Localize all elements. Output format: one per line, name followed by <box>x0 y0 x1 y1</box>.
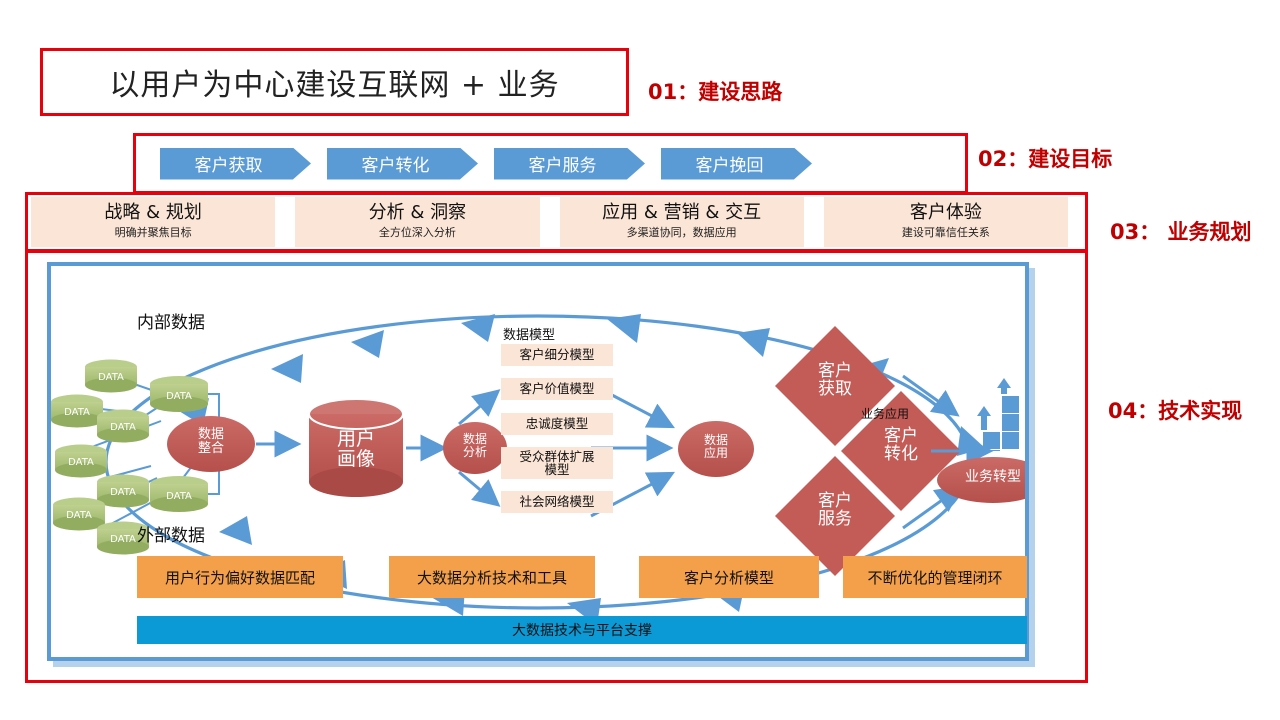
svg-text:DATA: DATA <box>166 391 192 402</box>
page-title: 以用户为中心建设互联网 + 业务 <box>109 60 559 104</box>
section-label-01: 01：建设思路 <box>648 76 782 106</box>
svg-text:DATA: DATA <box>110 487 136 498</box>
svg-text:DATA: DATA <box>98 372 124 383</box>
technical-implementation-section: DATADATADATA DATADATADATA DATADATADATA <box>25 250 1088 683</box>
planning-cell-experience-title: 客户体验 <box>910 204 982 223</box>
data-model-header: 数据模型 <box>503 324 555 343</box>
goals-chevron-row: 客户获取 客户转化 客户服务 客户挽回 <box>136 136 965 191</box>
business-application-label: 业务应用 <box>861 405 909 422</box>
planning-cell-strategy[interactable]: 战略 & 规划 明确并聚焦目标 <box>31 197 275 247</box>
planning-divider-4 <box>1071 195 1085 249</box>
goal-chevron-4[interactable]: 客户挽回 <box>661 148 812 180</box>
goal-chevron-3[interactable]: 客户服务 <box>494 148 645 180</box>
planning-cell-experience-subtitle: 建设可靠信任关系 <box>902 224 990 240</box>
data-integration-label: 数据 整合 <box>167 428 255 456</box>
diamond-customer-conversion-label: 客户 转化 <box>871 427 931 463</box>
data-application-label: 数据 应用 <box>678 434 754 459</box>
planning-cell-strategy-subtitle: 明确并聚焦目标 <box>115 224 192 240</box>
bottom-box-behavior-match[interactable]: 用户行为偏好数据匹配 <box>137 556 343 598</box>
planning-cell-analysis[interactable]: 分析 & 洞察 全方位深入分析 <box>295 197 539 247</box>
business-planning-section: 战略 & 规划 明确并聚焦目标 分析 & 洞察 全方位深入分析 应用 & 营销 … <box>25 192 1088 252</box>
section-label-03: 03： 业务规划 <box>1110 216 1252 246</box>
goal-chevron-2[interactable]: 客户转化 <box>327 148 478 180</box>
goal-chevron-4-label: 客户挽回 <box>696 151 764 176</box>
external-data-label: 外部数据 <box>137 521 205 546</box>
planning-divider-1 <box>278 195 292 249</box>
svg-text:DATA: DATA <box>166 491 192 502</box>
bottom-box-customer-model[interactable]: 客户分析模型 <box>639 556 819 598</box>
planning-cell-analysis-subtitle: 全方位深入分析 <box>379 224 456 240</box>
growth-blocks-icon <box>977 378 1019 451</box>
technical-diagram-frame: DATADATADATA DATADATADATA DATADATADATA <box>47 262 1029 661</box>
planning-cell-application[interactable]: 应用 & 营销 & 交互 多渠道协同，数据应用 <box>560 197 804 247</box>
data-analysis-label: 数据 分析 <box>443 433 507 458</box>
planning-cell-application-subtitle: 多渠道协同，数据应用 <box>627 224 737 240</box>
main-title-box: 以用户为中心建设互联网 + 业务 <box>40 48 629 116</box>
diamond-customer-acquisition-label: 客户 获取 <box>805 362 865 398</box>
svg-text:DATA: DATA <box>66 510 92 521</box>
model-chip-loyalty[interactable]: 忠诚度模型 <box>501 413 613 435</box>
diamond-customer-service-label: 客户 服务 <box>805 492 865 528</box>
svg-text:DATA: DATA <box>110 534 136 545</box>
planning-cell-application-title: 应用 & 营销 & 交互 <box>602 204 761 223</box>
internal-data-label: 内部数据 <box>137 308 205 333</box>
planning-cell-analysis-title: 分析 & 洞察 <box>369 204 466 223</box>
svg-text:DATA: DATA <box>64 407 90 418</box>
goal-chevron-1-label: 客户获取 <box>195 151 263 176</box>
user-profile-label: 用户 画像 <box>309 429 403 469</box>
svg-text:DATA: DATA <box>110 422 136 433</box>
platform-support-bar: 大数据技术与平台支撑 <box>137 616 1027 644</box>
model-chip-audience-expansion[interactable]: 受众群体扩展 模型 <box>501 447 613 479</box>
model-chip-value[interactable]: 客户价值模型 <box>501 378 613 400</box>
bottom-box-optimization-loop[interactable]: 不断优化的管理闭环 <box>843 556 1027 598</box>
svg-text:DATA: DATA <box>68 457 94 468</box>
model-chip-segmentation[interactable]: 客户细分模型 <box>501 344 613 366</box>
goal-chevron-1[interactable]: 客户获取 <box>160 148 311 180</box>
goal-chevron-3-label: 客户服务 <box>529 151 597 176</box>
section-label-02: 02：建设目标 <box>978 143 1112 173</box>
business-transformation-label: 业务转型 <box>937 470 1049 485</box>
planning-divider-2 <box>543 195 557 249</box>
model-chip-social-network[interactable]: 社会网络模型 <box>501 491 613 513</box>
planning-divider-3 <box>807 195 821 249</box>
planning-cell-experience[interactable]: 客户体验 建设可靠信任关系 <box>824 197 1068 247</box>
bottom-box-bigdata-tools[interactable]: 大数据分析技术和工具 <box>389 556 595 598</box>
section-label-04: 04：技术实现 <box>1108 395 1242 425</box>
goal-chevron-2-label: 客户转化 <box>362 151 430 176</box>
goals-section: 客户获取 客户转化 客户服务 客户挽回 <box>133 133 968 194</box>
planning-cell-strategy-title: 战略 & 规划 <box>104 204 201 223</box>
